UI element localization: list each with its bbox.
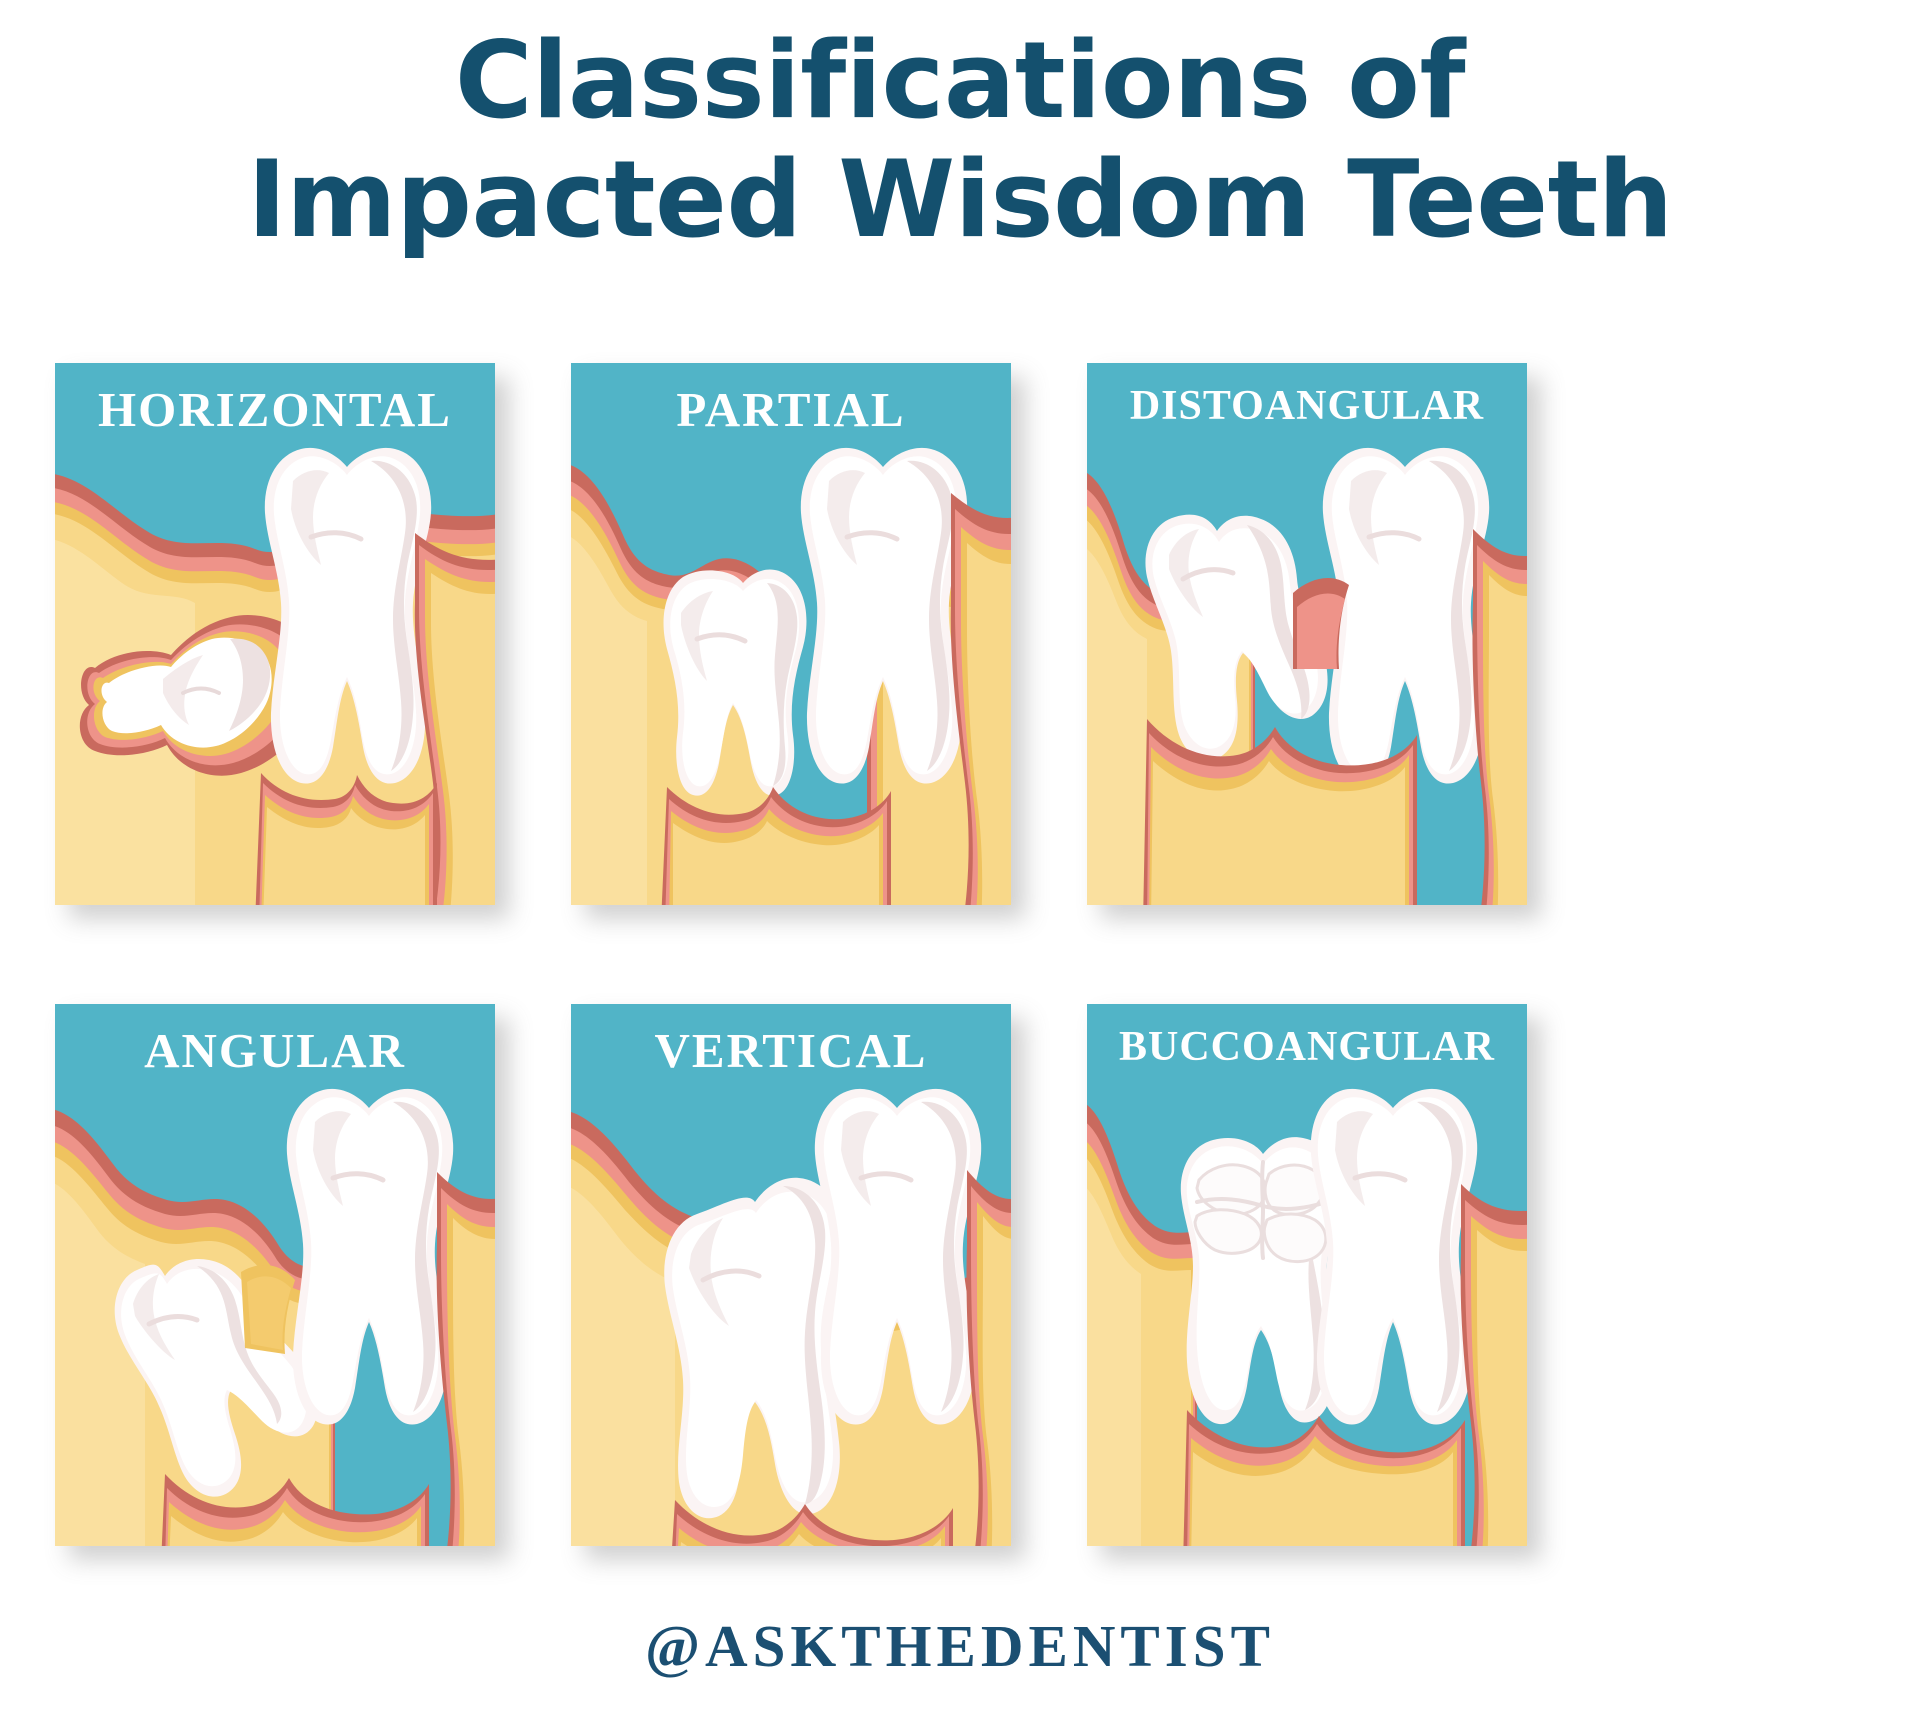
card-label-distoangular: DISTOANGULAR — [1087, 383, 1527, 429]
card-partial[interactable]: PARTIAL — [571, 363, 1011, 905]
card-horizontal[interactable]: HORIZONTAL — [55, 363, 495, 905]
card-label-angular: ANGULAR — [55, 1024, 495, 1078]
classification-grid: HORIZONTAL — [55, 363, 1853, 1546]
page-title: Classifications of Impacted Wisdom Teeth — [0, 22, 1920, 259]
card-distoangular[interactable]: DISTOANGULAR — [1087, 363, 1527, 905]
horizontal-illustration — [55, 363, 495, 905]
card-vertical[interactable]: VERTICAL — [571, 1004, 1011, 1546]
brand-handle: @ASKTHEDENTIST — [0, 1612, 1920, 1681]
angular-illustration — [55, 1004, 495, 1546]
buccoangular-illustration — [1087, 1004, 1527, 1546]
infographic-page: Classifications of Impacted Wisdom Teeth — [0, 0, 1920, 1717]
partial-illustration — [571, 363, 1011, 905]
card-buccoangular[interactable]: BUCCOANGULAR — [1087, 1004, 1527, 1546]
card-angular[interactable]: ANGULAR — [55, 1004, 495, 1546]
vertical-illustration — [571, 1004, 1011, 1546]
card-label-buccoangular: BUCCOANGULAR — [1087, 1024, 1527, 1070]
card-label-horizontal: HORIZONTAL — [55, 383, 495, 437]
card-label-partial: PARTIAL — [571, 383, 1011, 437]
card-label-vertical: VERTICAL — [571, 1024, 1011, 1078]
distoangular-illustration — [1087, 363, 1527, 905]
